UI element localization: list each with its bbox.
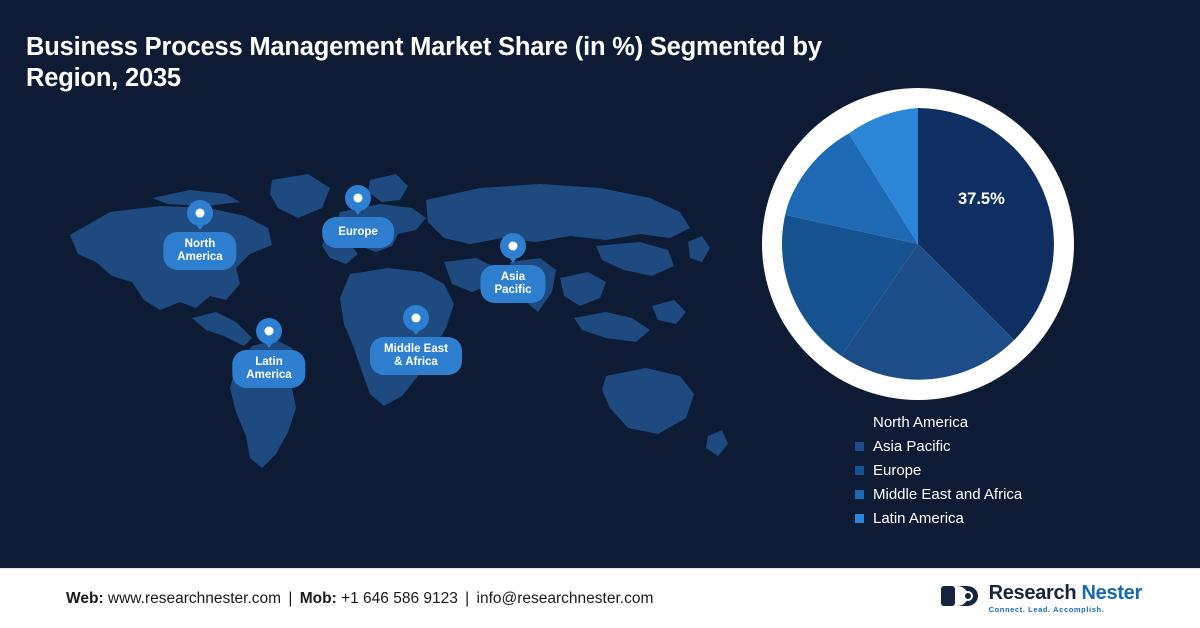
footer-separator-1: | [285,590,295,607]
footer-web-label: Web: [66,590,104,607]
pin-label-line1: Asia [494,271,531,284]
page-title: Business Process Management Market Share… [26,32,826,94]
company-logo[interactable]: Research Nester Connect. Lead. Accomplis… [941,583,1142,615]
logo-name-2: Nester [1082,582,1142,604]
legend-swatch-icon [855,418,864,427]
chart-legend: North America Asia Pacific Europe Middle… [855,410,1155,530]
footer-mob-value[interactable]: +1 646 586 9123 [341,590,458,607]
legend-label: North America [873,414,968,431]
legend-label: Latin America [873,510,964,527]
pie-chart: 37.5% [762,88,1118,400]
legend-item-middle-east-africa[interactable]: Middle East and Africa [855,482,1155,506]
pie-svg [782,108,1054,380]
pie-value-label-north-america: 37.5% [958,190,1005,209]
pin-tip-icon [506,253,520,263]
pin-tip-icon [193,220,207,230]
footer-web-value[interactable]: www.researchnester.com [108,590,281,607]
infographic-page: Business Process Management Market Share… [0,0,1200,628]
logo-title: Research Nester [989,583,1142,604]
pin-tip-icon [351,205,365,215]
legend-swatch-icon [855,490,864,499]
footer-separator-2: | [462,590,472,607]
legend-item-asia-pacific[interactable]: Asia Pacific [855,434,1155,458]
legend-swatch-icon [855,442,864,451]
pin-label-line1: Europe [338,226,378,239]
world-map: North America Europe Asia Pacific Latin [40,150,740,530]
pin-label-line2: America [177,251,222,264]
logo-mark-icon [941,583,981,614]
logo-tagline: Connect. Lead. Accomplish. [989,604,1142,615]
map-pin-label-north-america: North America [163,232,236,270]
map-pin-label-middle-east-africa: Middle East & Africa [370,337,462,375]
pie-slices [782,108,1054,380]
map-pin-label-asia-pacific: Asia Pacific [480,265,545,303]
footer-mob-label: Mob: [300,590,337,607]
pin-tip-icon [409,325,423,335]
pin-label-line1: Middle East [384,343,448,356]
pin-label-line1: North [177,238,222,251]
pin-label-line2: America [246,369,291,382]
pin-label-line2: & Africa [384,356,448,369]
footer-contact: Web: www.researchnester.com | Mob: +1 64… [66,590,653,608]
legend-label: Europe [873,462,921,479]
map-pin-label-latin-america: Latin America [232,350,305,388]
pin-label-line2: Pacific [494,284,531,297]
legend-item-latin-america[interactable]: Latin America [855,506,1155,530]
map-pin-label-europe: Europe [322,217,394,248]
legend-item-north-america[interactable]: North America [855,410,1155,434]
pin-label-line1: Latin [246,356,291,369]
legend-item-europe[interactable]: Europe [855,458,1155,482]
footer-email[interactable]: info@researchnester.com [477,590,654,607]
legend-swatch-icon [855,466,864,475]
legend-label: Middle East and Africa [873,486,1022,503]
legend-label: Asia Pacific [873,438,951,455]
pin-tip-icon [262,338,276,348]
logo-text: Research Nester Connect. Lead. Accomplis… [989,583,1142,615]
footer-bar: Web: www.researchnester.com | Mob: +1 64… [0,568,1200,628]
logo-name-1: Research [989,582,1077,604]
legend-swatch-icon [855,514,864,523]
